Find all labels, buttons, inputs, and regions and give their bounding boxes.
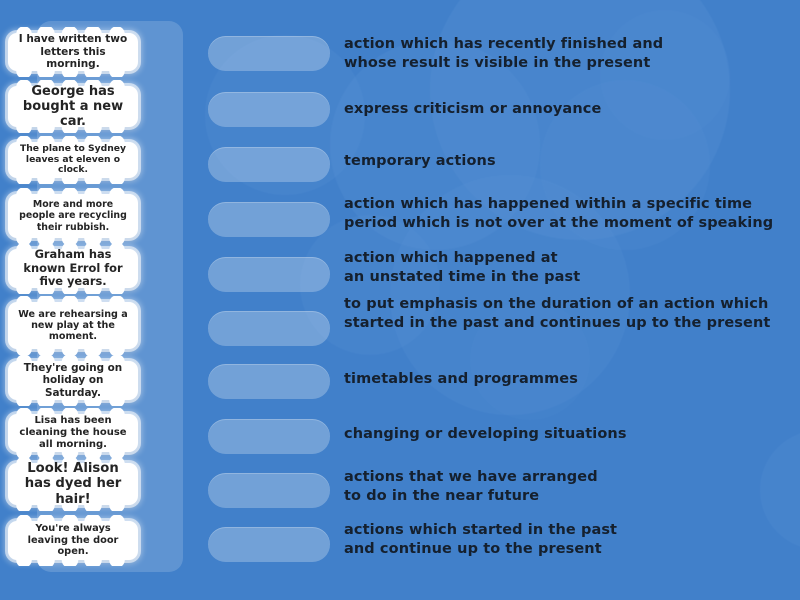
card-label: Look! Alison has dyed her hair!	[14, 461, 132, 508]
definition-line: whose result is visible in the present	[344, 54, 786, 73]
activity-canvas: I have written two letters this morning.…	[0, 0, 800, 600]
definition-text: actions that we have arrangedto do in th…	[344, 468, 786, 505]
definition-line: changing or developing situations	[344, 425, 786, 444]
drop-zone[interactable]	[208, 364, 330, 399]
drop-zone[interactable]	[208, 473, 330, 508]
draggable-card[interactable]: Lisa has been cleaning the house all mor…	[8, 414, 138, 452]
definition-line: an unstated time in the past	[344, 268, 786, 287]
card-label: The plane to Sydney leaves at eleven o c…	[14, 144, 132, 177]
draggable-card[interactable]: We are rehearsing a new play at the mome…	[8, 302, 138, 349]
definition-text: timetables and programmes	[344, 370, 786, 389]
draggable-card[interactable]: Look! Alison has dyed her hair!	[8, 463, 138, 505]
definition-text: action which has recently finished andwh…	[344, 35, 786, 72]
definition-text: express criticism or annoyance	[344, 100, 786, 119]
definition-line: period which is not over at the moment o…	[344, 214, 786, 233]
card-label: George has bought a new car.	[14, 84, 132, 130]
definition-text: temporary actions	[344, 152, 786, 171]
definition-line: action which has happened within a speci…	[344, 195, 786, 214]
card-label: More and more people are recycling their…	[14, 199, 132, 232]
definition-line: timetables and programmes	[344, 370, 786, 389]
draggable-card[interactable]: They're going on holiday on Saturday.	[8, 361, 138, 400]
draggable-card[interactable]: Graham has known Errol for five years.	[8, 249, 138, 288]
draggable-card[interactable]: I have written two letters this morning.	[8, 33, 138, 71]
definition-line: to do in the near future	[344, 487, 786, 506]
definition-line: temporary actions	[344, 152, 786, 171]
definition-line: started in the past and continues up to …	[344, 314, 786, 333]
draggable-card[interactable]: George has bought a new car.	[8, 86, 138, 127]
definition-text: action which happened atan unstated time…	[344, 249, 786, 286]
card-label: I have written two letters this morning.	[14, 33, 132, 70]
card-label: They're going on holiday on Saturday.	[14, 362, 132, 399]
drop-zone[interactable]	[208, 527, 330, 562]
card-label: Graham has known Errol for five years.	[14, 248, 132, 288]
drop-zone[interactable]	[208, 419, 330, 454]
card-label: Lisa has been cleaning the house all mor…	[14, 415, 132, 450]
drop-zone[interactable]	[208, 202, 330, 237]
drop-zone[interactable]	[208, 36, 330, 71]
drop-zone[interactable]	[208, 311, 330, 346]
drop-zone[interactable]	[208, 92, 330, 127]
card-label: You're always leaving the door open.	[14, 523, 132, 558]
definition-line: action which happened at	[344, 249, 786, 268]
definition-line: and continue up to the present	[344, 540, 786, 559]
definition-text: changing or developing situations	[344, 425, 786, 444]
draggable-card[interactable]: The plane to Sydney leaves at eleven o c…	[8, 142, 138, 178]
definition-line: to put emphasis on the duration of an ac…	[344, 295, 786, 314]
drop-zone[interactable]	[208, 147, 330, 182]
draggable-card[interactable]: You're always leaving the door open.	[8, 521, 138, 560]
card-label: We are rehearsing a new play at the mome…	[14, 309, 132, 343]
draggable-card[interactable]: More and more people are recycling their…	[8, 194, 138, 238]
definition-line: action which has recently finished and	[344, 35, 786, 54]
definition-text: actions which started in the pastand con…	[344, 521, 786, 558]
definition-line: actions that we have arranged	[344, 468, 786, 487]
definition-line: express criticism or annoyance	[344, 100, 786, 119]
definition-text: action which has happened within a speci…	[344, 195, 786, 232]
drop-zone[interactable]	[208, 257, 330, 292]
definition-line: actions which started in the past	[344, 521, 786, 540]
definition-text: to put emphasis on the duration of an ac…	[344, 295, 786, 332]
cloud-blob-icon	[600, 10, 730, 140]
